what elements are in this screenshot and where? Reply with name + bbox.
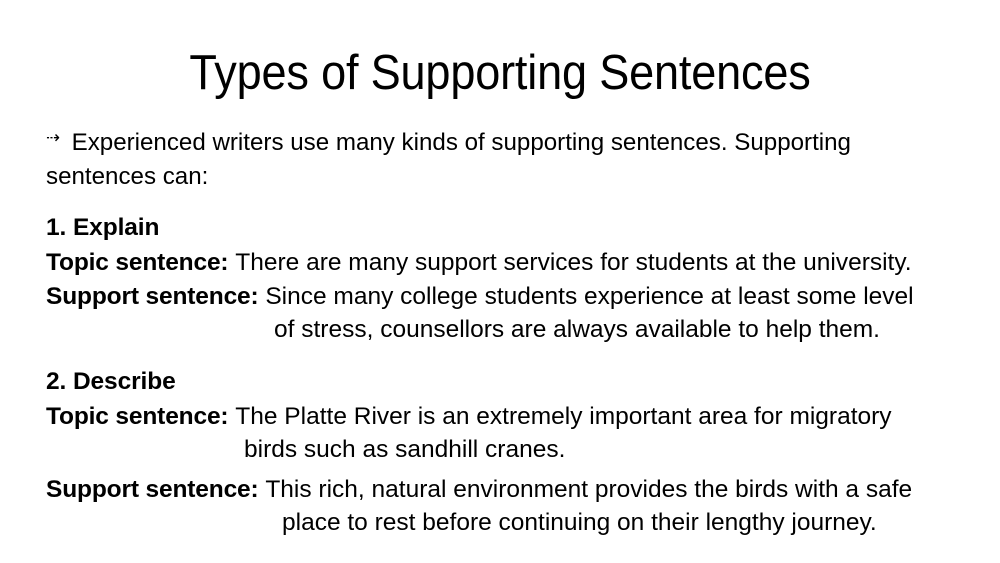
support-sentence-text-line1: Since many college students experience a… bbox=[265, 283, 913, 310]
section-heading-describe: 2. Describe bbox=[46, 365, 966, 399]
topic-sentence-describe: Topic sentence: The Platte River is an e… bbox=[46, 400, 966, 434]
topic-sentence-label: Topic sentence: bbox=[46, 249, 228, 276]
topic-sentence-label: Topic sentence: bbox=[46, 403, 228, 430]
topic-sentence-text-line1: The Platte River is an extremely importa… bbox=[235, 403, 891, 430]
support-sentence-label: Support sentence: bbox=[46, 476, 259, 503]
support-sentence-describe: Support sentence: This rich, natural env… bbox=[46, 473, 966, 507]
support-sentence-label: Support sentence: bbox=[46, 283, 259, 310]
section-heading-explain: 1. Explain bbox=[46, 211, 966, 245]
support-sentence-text-line1: This rich, natural environment provides … bbox=[265, 476, 912, 503]
support-sentence-text-line2: place to rest before continuing on their… bbox=[46, 506, 966, 540]
topic-sentence-text-line2: birds such as sandhill cranes. bbox=[46, 433, 966, 467]
support-sentence-text-line2: of stress, counsellors are always availa… bbox=[46, 313, 966, 347]
topic-sentence-explain: Topic sentence: There are many support s… bbox=[46, 246, 966, 280]
slide-canvas: Types of Supporting Sentences ⇢Experienc… bbox=[0, 0, 1000, 563]
intro-paragraph: ⇢Experienced writers use many kinds of s… bbox=[46, 126, 913, 193]
support-sentence-explain: Support sentence: Since many college stu… bbox=[46, 280, 966, 314]
intro-paragraph-text: Experienced writers use many kinds of su… bbox=[46, 129, 851, 190]
section-explain: 1. Explain Topic sentence: There are man… bbox=[46, 211, 966, 347]
page-title: Types of Supporting Sentences bbox=[40, 44, 960, 102]
dashed-arrow-bullet-icon: ⇢ bbox=[46, 121, 72, 155]
topic-sentence-text: There are many support services for stud… bbox=[235, 249, 911, 276]
section-describe: 2. Describe Topic sentence: The Platte R… bbox=[46, 365, 966, 540]
slide-body: ⇢Experienced writers use many kinds of s… bbox=[46, 126, 966, 540]
